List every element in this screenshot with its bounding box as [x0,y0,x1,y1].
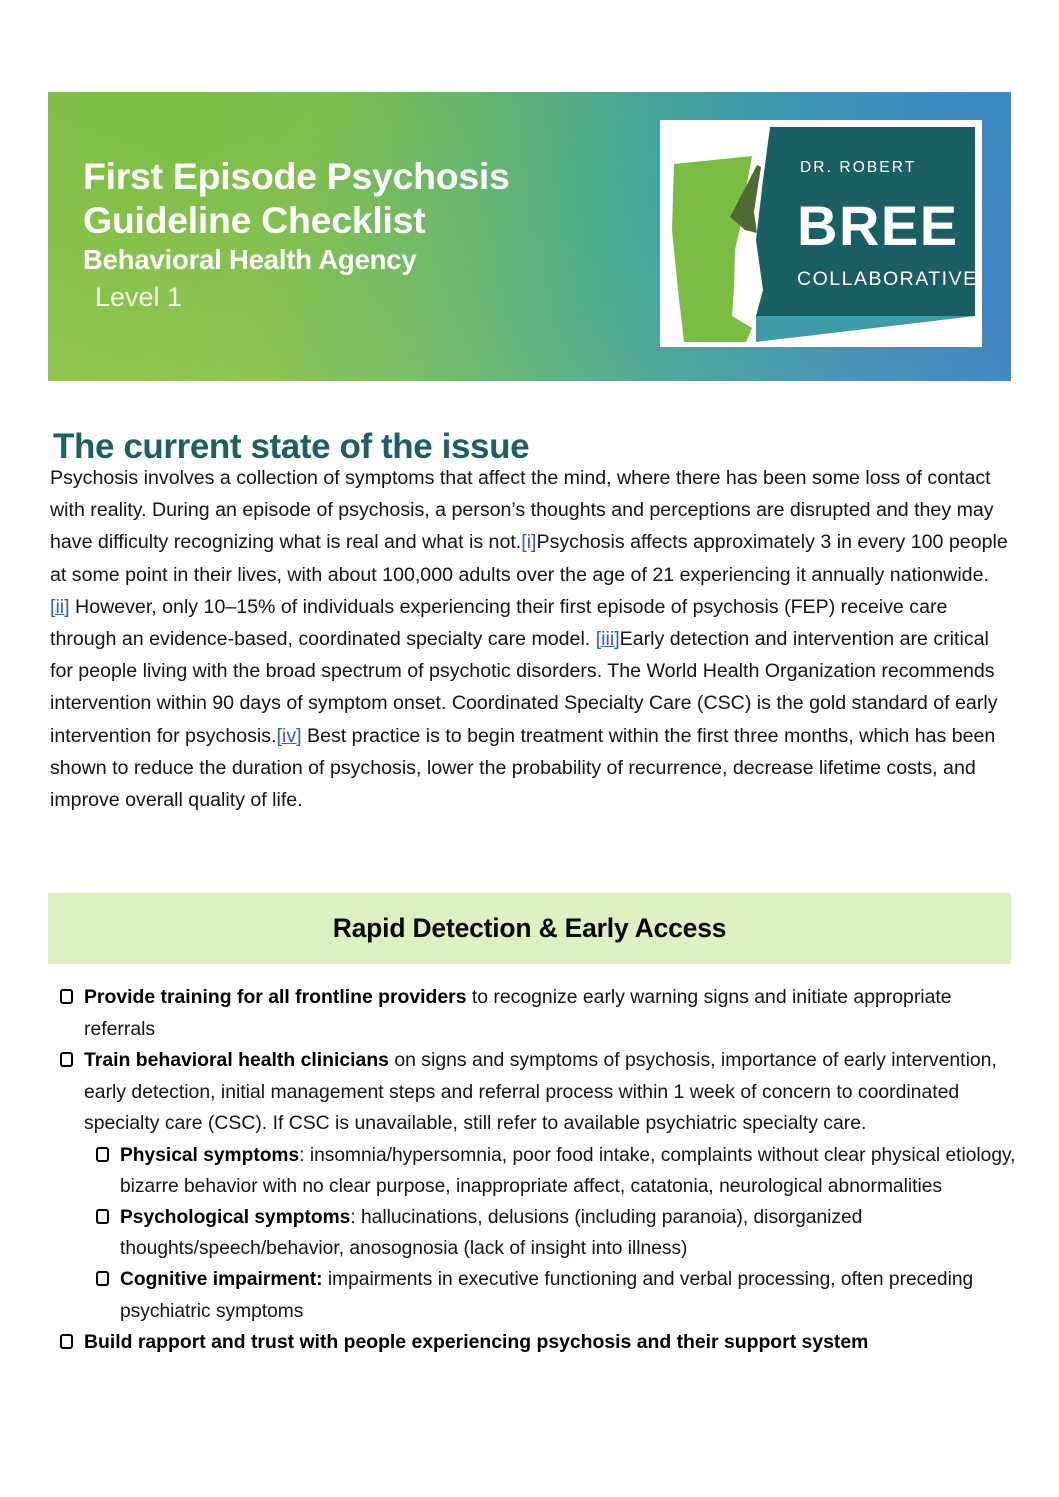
checklist: Provide training for all frontline provi… [48,982,1018,1358]
checkbox-icon[interactable] [96,1209,109,1224]
checklist-item-label: Physical symptoms [120,1145,299,1166]
document-subtitle: Behavioral Health Agency [83,242,510,278]
document-page: First Episode Psychosis Guideline Checkl… [0,0,1059,1497]
document-title-line-2: Guideline Checklist [83,198,510,242]
section-banner-title: Rapid Detection & Early Access [333,913,727,944]
checklist-item-text: Train behavioral health clinicians on si… [84,1045,1018,1140]
checklist-item-label: Cognitive impairment: [120,1269,323,1290]
document-level-label: Level 1 [83,278,510,316]
checklist-item[interactable]: Build rapport and trust with people expe… [48,1327,1018,1359]
checkbox-icon[interactable] [96,1147,109,1162]
checklist-item[interactable]: Psychological symptoms: hallucinations, … [48,1202,1018,1264]
checklist-item-text: Physical symptoms: insomnia/hypersomnia,… [120,1140,1018,1202]
checklist-item-label: Provide training for all frontline provi… [84,986,466,1008]
checklist-item-label: Build rapport and trust with people expe… [84,1331,868,1353]
checkbox-icon[interactable] [60,1334,73,1349]
footnote-link-ii[interactable]: [ii] [50,596,70,618]
logo-text-bree: BREE [797,194,959,257]
checklist-item-label: Psychological symptoms [120,1207,350,1228]
checklist-item[interactable]: Cognitive impairment: impairments in exe… [48,1264,1018,1326]
logo-text-dr-robert: DR. ROBERT [800,159,916,176]
intro-paragraph: Psychosis involves a collection of sympt… [50,462,1013,816]
logo-text-collaborative: COLLABORATIVE [797,268,978,290]
checklist-item-text: Build rapport and trust with people expe… [84,1327,1018,1359]
header-title-block: First Episode Psychosis Guideline Checkl… [83,154,510,316]
checklist-item-text: Cognitive impairment: impairments in exe… [120,1264,1018,1326]
checklist-item[interactable]: Physical symptoms: insomnia/hypersomnia,… [48,1140,1018,1202]
checklist-item[interactable]: Provide training for all frontline provi… [48,982,1018,1045]
header-banner: First Episode Psychosis Guideline Checkl… [48,92,1011,381]
checklist-item[interactable]: Train behavioral health clinicians on si… [48,1045,1018,1140]
footnote-link-iv[interactable]: [iv] [277,725,302,747]
section-banner-rapid-detection: Rapid Detection & Early Access [48,893,1011,964]
checkbox-icon[interactable] [60,1052,73,1067]
checkbox-icon[interactable] [96,1271,109,1286]
checkbox-icon[interactable] [60,989,73,1004]
bree-collaborative-logo: DR. ROBERT BREE COLLABORATIVE [660,120,982,347]
footnote-link-i[interactable]: [i] [521,531,536,553]
footnote-link-iii[interactable]: [iii] [596,628,620,650]
checklist-item-text: Provide training for all frontline provi… [84,982,1018,1045]
checklist-item-text: Psychological symptoms: hallucinations, … [120,1202,1018,1264]
document-title-line-1: First Episode Psychosis [83,154,510,198]
checklist-item-label: Train behavioral health clinicians [84,1049,389,1071]
